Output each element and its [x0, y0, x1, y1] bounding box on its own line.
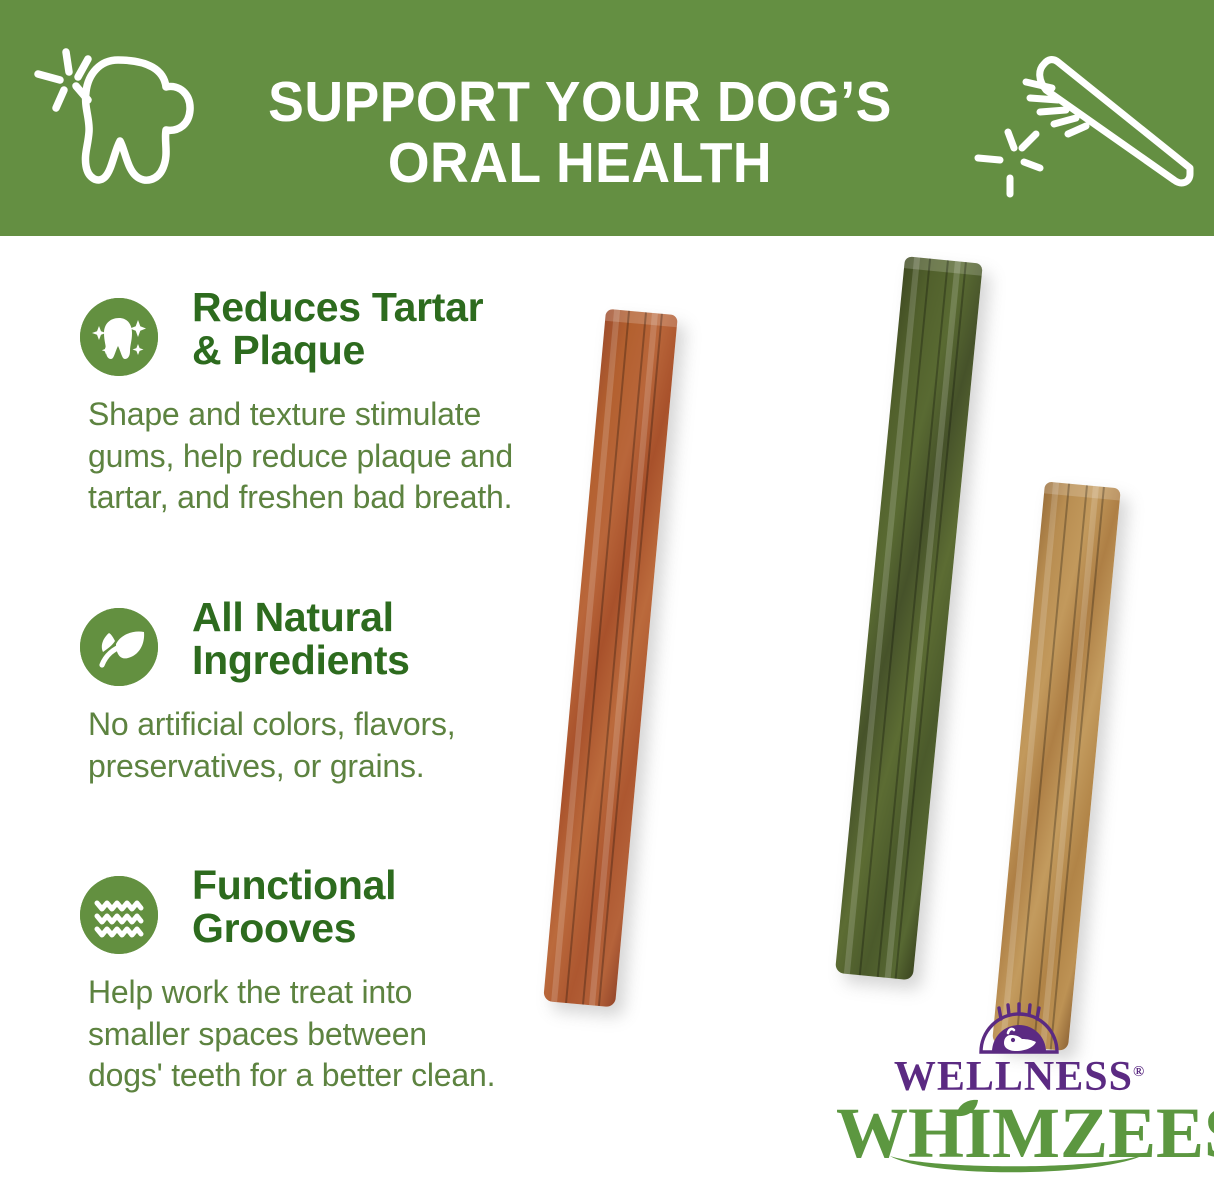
logo-swoosh-icon — [888, 1152, 1150, 1178]
feature-title-line2: Ingredients — [192, 639, 640, 682]
feature-title-line1: All Natural — [192, 594, 394, 640]
feature-description: Shape and texture stimulate gums, help r… — [80, 394, 640, 519]
infographic-page: SUPPORT YOUR DOG’S ORAL HEALTH — [0, 0, 1214, 1184]
feature-description-line2: gums, help reduce plaque and — [88, 436, 640, 478]
feature-header: Functional Grooves — [80, 864, 640, 960]
logo-wellness-text: WELLNESS® — [836, 1056, 1202, 1098]
tooth-sparkle-icon — [80, 298, 158, 376]
feature-description-line2: smaller spaces between — [88, 1014, 640, 1056]
tooth-sparkle-icon — [26, 32, 206, 207]
header-banner: SUPPORT YOUR DOG’S ORAL HEALTH — [0, 0, 1214, 236]
toothbrush-sparkle-icon — [952, 40, 1202, 220]
stick-groove — [877, 260, 949, 977]
leaf-icon — [80, 608, 158, 686]
feature-title-line2: & Plaque — [192, 329, 640, 372]
stick-highlight — [885, 261, 961, 978]
feature-title-line2: Grooves — [192, 907, 640, 950]
feature-item-all-natural-ingredients: All Natural Ingredients No artificial co… — [80, 596, 640, 787]
stick-highlight — [844, 257, 920, 974]
registered-mark-icon: ® — [1133, 1064, 1144, 1080]
feature-description-line3: tartar, and freshen bad breath. — [88, 477, 640, 519]
feature-title-line1: Functional — [192, 862, 396, 908]
feature-description-line2: preservatives, or grains. — [88, 746, 640, 788]
page-title-line1: SUPPORT YOUR DOG’S — [268, 70, 892, 134]
feature-description-line3: dogs' teeth for a better clean. — [88, 1055, 640, 1097]
page-title-line2: ORAL HEALTH — [223, 133, 937, 193]
logo-whimzees-text: WHIMZEES® — [836, 1096, 1202, 1172]
feature-title: All Natural Ingredients — [80, 596, 640, 681]
page-title: SUPPORT YOUR DOG’S ORAL HEALTH — [223, 72, 937, 193]
feature-item-functional-grooves: Functional Grooves Help work the treat i… — [80, 864, 640, 1097]
product-stick-tan — [992, 481, 1121, 1051]
feature-description: No artificial colors, flavors, preservat… — [80, 704, 640, 787]
feature-title: Functional Grooves — [80, 864, 640, 949]
feature-header: All Natural Ingredients — [80, 596, 640, 692]
wavy-grooves-icon — [80, 876, 158, 954]
product-stick-green — [835, 256, 983, 980]
leaf-accent-icon — [954, 1098, 980, 1118]
product-image-group — [560, 240, 1214, 1060]
brand-logo: WELLNESS® WHIMZEES® — [836, 1002, 1202, 1170]
feature-description-line1: Help work the treat into — [88, 972, 640, 1014]
sunburst-dog-emblem — [978, 1002, 1060, 1054]
feature-description-line1: Shape and texture stimulate — [88, 394, 640, 436]
feature-description: Help work the treat into smaller spaces … — [80, 972, 640, 1097]
feature-header: Reduces Tartar & Plaque — [80, 286, 640, 382]
feature-description-line1: No artificial colors, flavors, — [88, 704, 640, 746]
feature-title-line1: Reduces Tartar — [192, 284, 483, 330]
feature-item-reduces-tartar-plaque: Reduces Tartar & Plaque Shape and textur… — [80, 286, 640, 519]
feature-title: Reduces Tartar & Plaque — [80, 286, 640, 371]
